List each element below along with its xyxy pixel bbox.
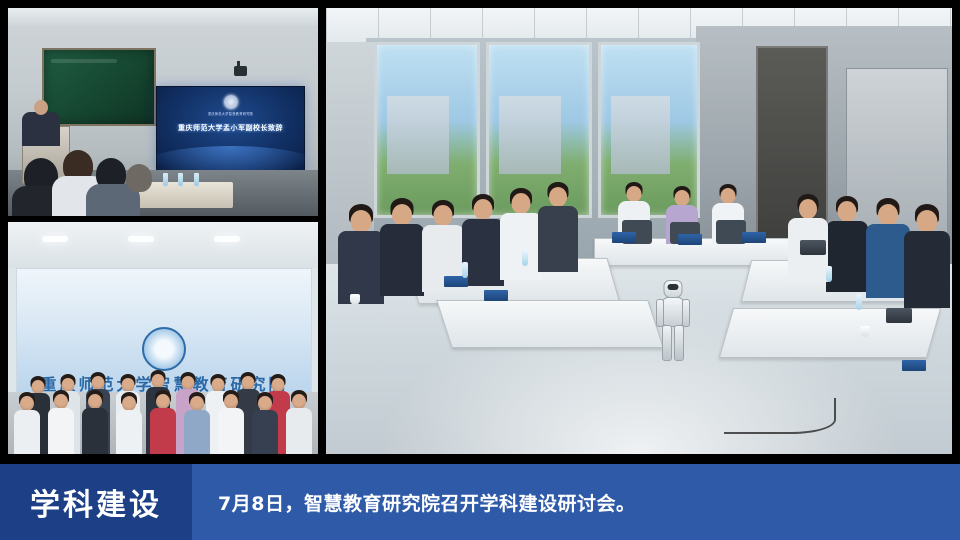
torso bbox=[252, 410, 278, 454]
name-placard bbox=[742, 232, 766, 243]
torso bbox=[538, 206, 578, 272]
torso bbox=[338, 231, 384, 304]
outside-building bbox=[611, 96, 671, 174]
person bbox=[218, 390, 244, 454]
head bbox=[156, 394, 170, 409]
robot-torso bbox=[662, 297, 684, 327]
robot-face-icon bbox=[668, 284, 679, 290]
head bbox=[721, 188, 736, 204]
humanoid-robot bbox=[656, 280, 690, 362]
person bbox=[14, 392, 40, 454]
participant bbox=[538, 182, 578, 272]
lecture-ceiling bbox=[8, 8, 318, 26]
participant bbox=[788, 194, 828, 282]
institute-emblem-icon bbox=[142, 327, 186, 371]
torso bbox=[904, 231, 950, 308]
outside-building bbox=[387, 96, 449, 174]
caption-badge: 学科建设 bbox=[0, 464, 192, 540]
robot-arm bbox=[656, 299, 664, 327]
speaker-head bbox=[34, 100, 48, 115]
head bbox=[92, 376, 105, 390]
seminar-room-photo bbox=[326, 8, 952, 454]
projection-screen: 重庆师范大学智慧教育研究院 重庆师范大学孟小军副校长致辞 bbox=[156, 86, 305, 171]
water-bottle bbox=[522, 250, 528, 266]
name-placard bbox=[678, 234, 702, 245]
torso bbox=[826, 221, 868, 292]
head bbox=[152, 374, 165, 388]
head bbox=[675, 190, 690, 206]
water-bottle bbox=[194, 173, 199, 186]
name-placard bbox=[902, 360, 926, 371]
head bbox=[799, 199, 817, 219]
head bbox=[917, 210, 938, 233]
audience-head bbox=[126, 164, 152, 192]
head bbox=[474, 199, 493, 220]
person bbox=[184, 392, 210, 454]
water-bottle bbox=[462, 262, 468, 278]
head bbox=[258, 396, 272, 411]
person bbox=[82, 390, 108, 454]
caption-text: 7月8日，智慧教育研究院召开学科建设研讨会。 bbox=[192, 464, 960, 540]
torso bbox=[380, 224, 424, 296]
group-photo: 重庆师范大学智慧教育研究院 bbox=[8, 222, 318, 454]
robot-arm bbox=[682, 299, 690, 327]
person bbox=[48, 390, 74, 454]
ceiling-light bbox=[128, 236, 154, 242]
head bbox=[434, 205, 453, 226]
participant bbox=[826, 196, 868, 292]
torso bbox=[48, 408, 74, 454]
head bbox=[190, 396, 204, 411]
power-cable bbox=[724, 398, 836, 434]
person bbox=[116, 392, 142, 454]
participant bbox=[904, 204, 950, 308]
laptop bbox=[886, 308, 912, 323]
head bbox=[272, 378, 285, 392]
ceiling-light bbox=[214, 236, 240, 242]
head bbox=[549, 187, 567, 207]
head bbox=[20, 396, 34, 411]
speaker-body bbox=[22, 112, 60, 146]
conference-table bbox=[436, 300, 664, 348]
participant bbox=[500, 188, 542, 280]
water-bottle bbox=[178, 173, 183, 186]
water-bottle bbox=[856, 294, 862, 310]
torso bbox=[116, 410, 142, 454]
ceiling-light bbox=[42, 236, 68, 242]
participant bbox=[338, 204, 384, 304]
torso bbox=[82, 408, 108, 454]
head bbox=[838, 201, 857, 222]
group-ceiling bbox=[8, 222, 318, 268]
torso bbox=[218, 408, 244, 454]
paper-cup bbox=[860, 326, 870, 337]
robot-leg bbox=[662, 325, 672, 361]
head bbox=[512, 193, 531, 214]
name-placard bbox=[612, 232, 636, 243]
screen-subtitle: 重庆师范大学智慧教育研究院 bbox=[157, 111, 304, 116]
screenshot-stage: 重庆师范大学智慧教育研究院 重庆师范大学孟小军副校长致辞 重庆师范大学智慧教育研… bbox=[0, 0, 960, 540]
head bbox=[122, 396, 136, 411]
head bbox=[292, 394, 306, 409]
head bbox=[351, 210, 372, 233]
caption-bar: 学科建设 7月8日，智慧教育研究院召开学科建设研讨会。 bbox=[0, 464, 960, 540]
torso bbox=[150, 408, 176, 454]
torso bbox=[286, 408, 312, 454]
water-bottle bbox=[826, 266, 832, 282]
head bbox=[392, 204, 412, 226]
water-bottle bbox=[163, 173, 168, 186]
torso bbox=[500, 213, 542, 280]
robot-leg bbox=[674, 325, 684, 361]
window bbox=[374, 42, 480, 218]
person bbox=[150, 390, 176, 454]
person bbox=[252, 392, 278, 454]
person bbox=[286, 390, 312, 454]
torso bbox=[462, 219, 504, 286]
participant bbox=[462, 194, 504, 286]
university-logo-icon bbox=[224, 95, 238, 109]
head bbox=[54, 394, 68, 409]
paper-cup bbox=[350, 294, 360, 305]
torso bbox=[184, 410, 210, 454]
head bbox=[182, 376, 195, 390]
torso bbox=[14, 410, 40, 454]
head bbox=[242, 376, 255, 390]
head bbox=[224, 394, 238, 409]
name-placard bbox=[484, 290, 508, 301]
participant bbox=[380, 198, 424, 296]
outside-building bbox=[499, 96, 561, 174]
head bbox=[878, 204, 898, 226]
lecture-hall-photo: 重庆师范大学智慧教育研究院 重庆师范大学孟小军副校长致辞 bbox=[8, 8, 318, 216]
chalkboard bbox=[42, 48, 156, 126]
head bbox=[88, 394, 102, 409]
head bbox=[627, 186, 642, 202]
screen-title: 重庆师范大学孟小军副校长致辞 bbox=[157, 123, 304, 133]
laptop bbox=[800, 240, 826, 255]
head bbox=[122, 378, 135, 392]
ceiling-camera-icon bbox=[234, 66, 247, 76]
